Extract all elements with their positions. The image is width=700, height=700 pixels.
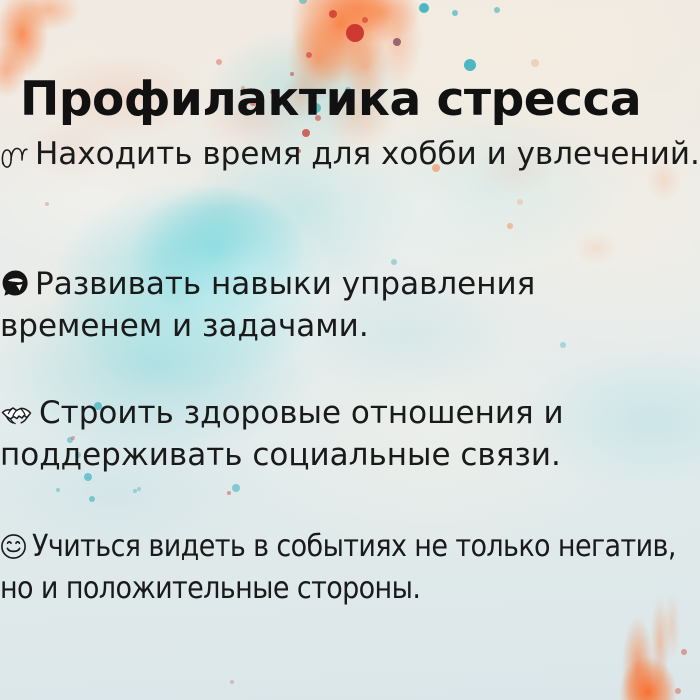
list-item: Строить здоровые отношения и поддерживат… (0, 392, 700, 476)
handshake-icon (0, 402, 34, 428)
head-profile-icon (0, 269, 30, 299)
list-item-text: Находить время для хобби и увлечений. (35, 136, 700, 172)
poster-content: Профилактика стресса Находить время для … (0, 0, 700, 700)
smiling-face-icon (0, 533, 27, 560)
page-title: Профилактика стресса (20, 75, 641, 124)
poster-canvas: Профилактика стресса Находить время для … (0, 0, 700, 700)
list-item: Учиться видеть в событиях не только нега… (0, 526, 700, 610)
curly-swirl-icon (0, 143, 30, 169)
list-item: Находить время для хобби и увлечений. (0, 133, 700, 175)
list-item: Развивать навыки управления временем и з… (0, 263, 700, 347)
list-item-text: Развивать навыки управления временем и з… (0, 266, 535, 344)
list-item-text: Учиться видеть в событиях не только нега… (0, 529, 676, 606)
list-item-text: Строить здоровые отношения и поддерживат… (0, 395, 564, 473)
